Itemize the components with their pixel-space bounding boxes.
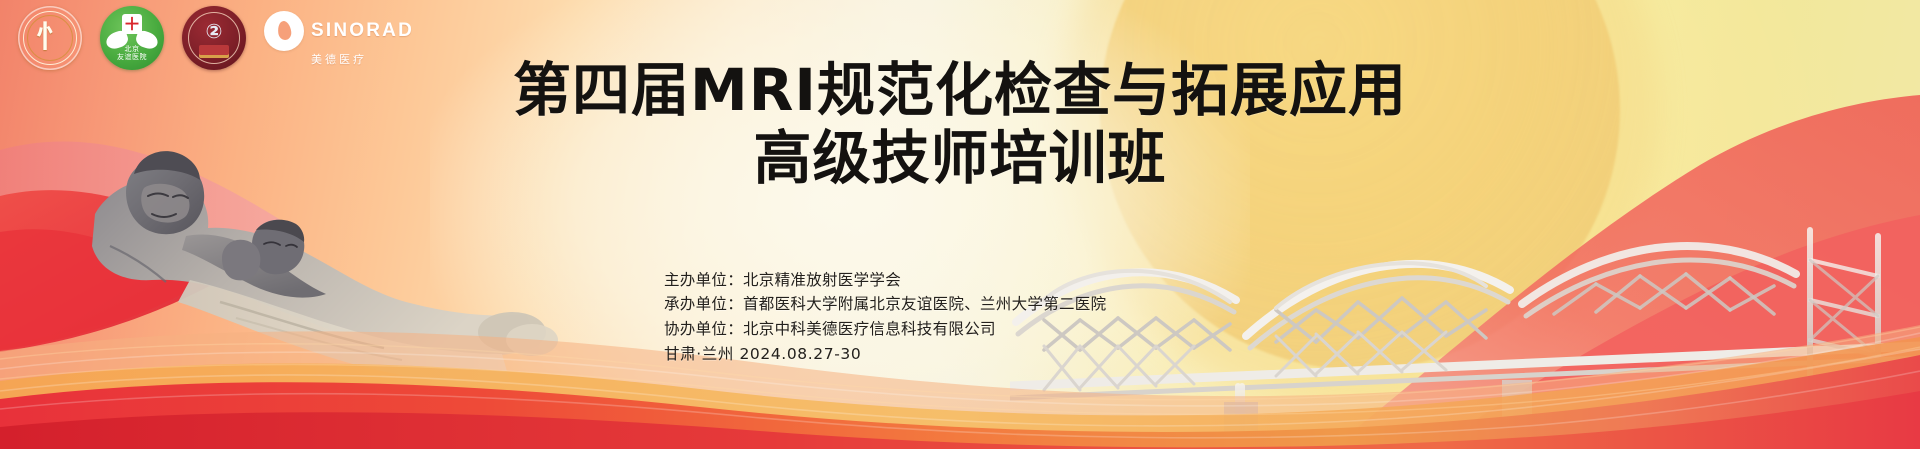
beijing-precision-radiology-society-seal[interactable]: 忄 [18,6,82,70]
sinorad-wordmark: SINORAD [311,21,414,40]
conference-banner: 忄 ＋ 北京 友谊医院 ② [0,0,1920,449]
sinorad-logo[interactable]: SINORAD 美德医疗 [264,11,414,66]
title-line-2: 高级技师培训班 [0,128,1920,188]
organizer-info-block: 主办单位：北京精准放射医学学会 承办单位：首都医科大学附属北京友谊医院、兰州大学… [664,268,1106,367]
location-and-date: 甘肃·兰州 2024.08.27-30 [664,342,1106,366]
seal-number-glyph: ② [206,22,223,42]
logo-row: 忄 ＋ 北京 友谊医院 ② [18,6,414,70]
seal-glyph: 忄 [18,6,82,70]
sinorad-mark-icon [264,11,304,51]
red-cross-icon: ＋ [124,16,141,33]
title-block: 第四届MRI规范化检查与拓展应用 高级技师培训班 [0,60,1920,189]
host-organization: 主办单位：北京精准放射医学学会 [664,268,1106,292]
hospital-name-line1: 北京 [100,46,164,55]
beijing-friendship-hospital-logo[interactable]: ＋ 北京 友谊医院 [100,6,164,70]
lanzhou-university-second-hospital-logo[interactable]: ② [182,6,246,70]
sinorad-subtext: 美德医疗 [311,55,367,66]
hospital-name-line2: 友谊医院 [100,54,164,63]
organizing-institutions: 承办单位：首都医科大学附属北京友谊医院、兰州大学第二医院 [664,292,1106,316]
co-organizer: 协办单位：北京中科美德医疗信息科技有限公司 [664,317,1106,341]
